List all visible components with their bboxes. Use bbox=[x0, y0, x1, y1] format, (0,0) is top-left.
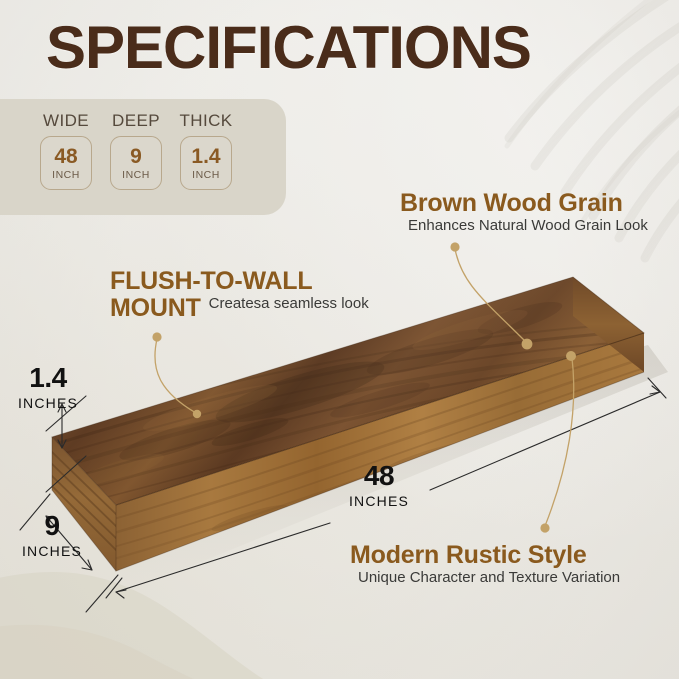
callout-headline-text-brown-wood: Brown Wood Grain bbox=[400, 189, 623, 217]
callout-subtext-flush-mount: Createsa seamless look bbox=[209, 295, 369, 313]
callout-subtext-modern-rustic: Unique Character and Texture Variation bbox=[358, 569, 620, 587]
callout-headline-modern-rustic: Modern Rustic StyleUnique Character and … bbox=[350, 542, 650, 596]
dimension-unit-width: INCHES bbox=[336, 493, 422, 509]
specifications-infographic: SPECIFICATIONS WIDE 48 INCH DEEP 9 INCH … bbox=[0, 0, 679, 679]
spec-unit-wide: INCH bbox=[52, 169, 80, 181]
callout-headline-flush-mount: FLUSH-TO-WALL MOUNTCreatesa seamless loo… bbox=[110, 268, 380, 322]
callout-modern-rustic-style: Modern Rustic StyleUnique Character and … bbox=[350, 542, 650, 596]
dimension-unit-depth: INCHES bbox=[14, 543, 90, 559]
spec-box-thick: 1.4 INCH bbox=[180, 136, 232, 190]
leader-dot-flush-mount-top bbox=[152, 332, 161, 341]
dimension-value-thickness: 1.4 bbox=[8, 364, 88, 392]
leader-dot-brown-wood-end bbox=[522, 339, 533, 350]
callout-brown-wood-grain: Brown Wood GrainEnhances Natural Wood Gr… bbox=[400, 190, 660, 244]
spec-unit-thick: INCH bbox=[192, 169, 220, 181]
spec-label-thick: THICK bbox=[180, 111, 233, 131]
dimension-label-depth: 9 INCHES bbox=[14, 512, 90, 559]
spec-label-wide: WIDE bbox=[43, 111, 89, 131]
spec-box-deep: 9 INCH bbox=[110, 136, 162, 190]
dimension-label-width: 48 INCHES bbox=[336, 462, 422, 509]
callout-headline-text-modern-rustic: Modern Rustic Style bbox=[350, 541, 587, 569]
spec-label-deep: DEEP bbox=[112, 111, 160, 131]
spec-value-wide: 48 bbox=[54, 146, 77, 167]
spec-item-thick: THICK 1.4 INCH bbox=[176, 111, 236, 190]
dimension-unit-thickness: INCHES bbox=[8, 395, 88, 411]
shelf-front-edge bbox=[110, 333, 650, 571]
callout-headline-brown-wood: Brown Wood GrainEnhances Natural Wood Gr… bbox=[400, 190, 660, 244]
leader-dot-modern-rustic-bottom bbox=[540, 523, 549, 532]
leader-dot-flush-mount-end bbox=[193, 410, 201, 418]
spec-item-deep: DEEP 9 INCH bbox=[106, 111, 166, 190]
spec-value-thick: 1.4 bbox=[191, 146, 220, 167]
leader-line-brown-wood bbox=[455, 249, 526, 342]
callout-flush-to-wall-mount: FLUSH-TO-WALL MOUNTCreatesa seamless loo… bbox=[110, 268, 380, 322]
spec-value-deep: 9 bbox=[130, 146, 142, 167]
specs-panel: WIDE 48 INCH DEEP 9 INCH THICK 1.4 INCH bbox=[0, 99, 286, 215]
dimension-label-thickness: 1.4 INCHES bbox=[8, 364, 88, 411]
callout-subtext-brown-wood: Enhances Natural Wood Grain Look bbox=[408, 217, 648, 235]
leader-dot-modern-rustic-end bbox=[566, 351, 576, 361]
page-title: SPECIFICATIONS bbox=[46, 18, 531, 78]
spec-item-wide: WIDE 48 INCH bbox=[36, 111, 96, 190]
spec-unit-deep: INCH bbox=[122, 169, 150, 181]
dimension-value-depth: 9 bbox=[14, 512, 90, 540]
shelf-right-end-face bbox=[573, 277, 644, 372]
spec-box-wide: 48 INCH bbox=[40, 136, 92, 190]
dimension-value-width: 48 bbox=[336, 462, 422, 490]
leader-line-modern-rustic bbox=[545, 358, 574, 526]
leader-line-flush-mount bbox=[155, 339, 196, 413]
